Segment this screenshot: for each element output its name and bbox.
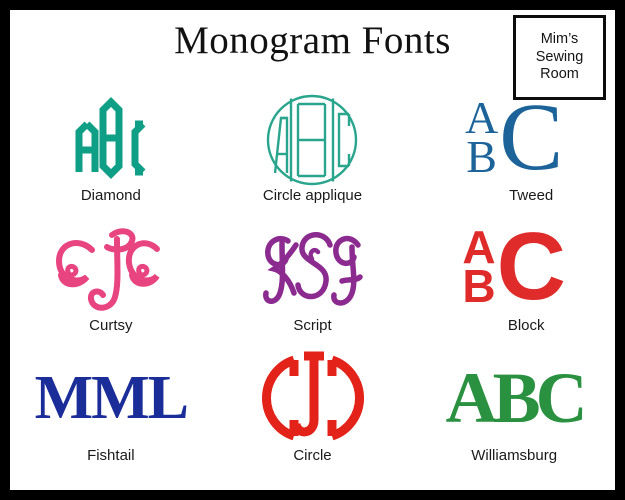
- sample-block[interactable]: A B C Block: [413, 216, 615, 346]
- tweed-letter-b: B: [466, 137, 497, 177]
- poster-frame: Monogram Fonts Mim’s Sewing Room: [0, 0, 625, 500]
- block-letter-b: B: [462, 267, 495, 307]
- sample-label: Williamsburg: [471, 447, 557, 464]
- block-letter-c: C: [497, 224, 566, 310]
- logo-line-3: Room: [540, 66, 579, 84]
- sample-label: Curtsy: [89, 317, 132, 334]
- sample-label: Circle applique: [263, 187, 362, 204]
- sample-curtsy[interactable]: Curtsy: [10, 216, 212, 346]
- curtsy-monogram-art: [10, 216, 212, 319]
- sample-tweed[interactable]: A B C Tweed: [413, 86, 615, 216]
- sample-label: Block: [508, 317, 545, 334]
- logo-line-2: Sewing: [536, 49, 584, 67]
- poster-canvas: Monogram Fonts Mim’s Sewing Room: [10, 10, 615, 490]
- sample-diamond[interactable]: Diamond: [10, 86, 212, 216]
- tweed-monogram-art: A B C: [413, 86, 615, 189]
- williamsburg-monogram-art: ABC: [413, 346, 615, 449]
- fishtail-monogram-art: MML: [10, 346, 212, 449]
- script-monogram-art: [212, 216, 414, 319]
- sample-circle[interactable]: Circle: [212, 346, 414, 476]
- logo-line-1: Mim’s: [541, 31, 579, 49]
- block-monogram-art: A B C: [413, 216, 615, 319]
- sample-circle-applique[interactable]: Circle applique: [212, 86, 414, 216]
- sample-label: Diamond: [81, 187, 141, 204]
- fishtail-letters: MML: [35, 367, 187, 429]
- williamsburg-letters: ABC: [446, 362, 583, 434]
- monogram-samples-grid: Diamond: [10, 86, 615, 476]
- sample-script[interactable]: Script: [212, 216, 414, 346]
- sample-label: Circle: [293, 447, 331, 464]
- diamond-monogram-art: [10, 86, 212, 189]
- sample-label: Script: [293, 317, 331, 334]
- circle-monogram-art: [212, 346, 414, 449]
- circle-applique-monogram-art: [212, 86, 414, 189]
- sample-williamsburg[interactable]: ABC Williamsburg: [413, 346, 615, 476]
- sample-label: Fishtail: [87, 447, 135, 464]
- sample-label: Tweed: [509, 187, 553, 204]
- sample-fishtail[interactable]: MML Fishtail: [10, 346, 212, 476]
- tweed-letter-c: C: [499, 94, 563, 180]
